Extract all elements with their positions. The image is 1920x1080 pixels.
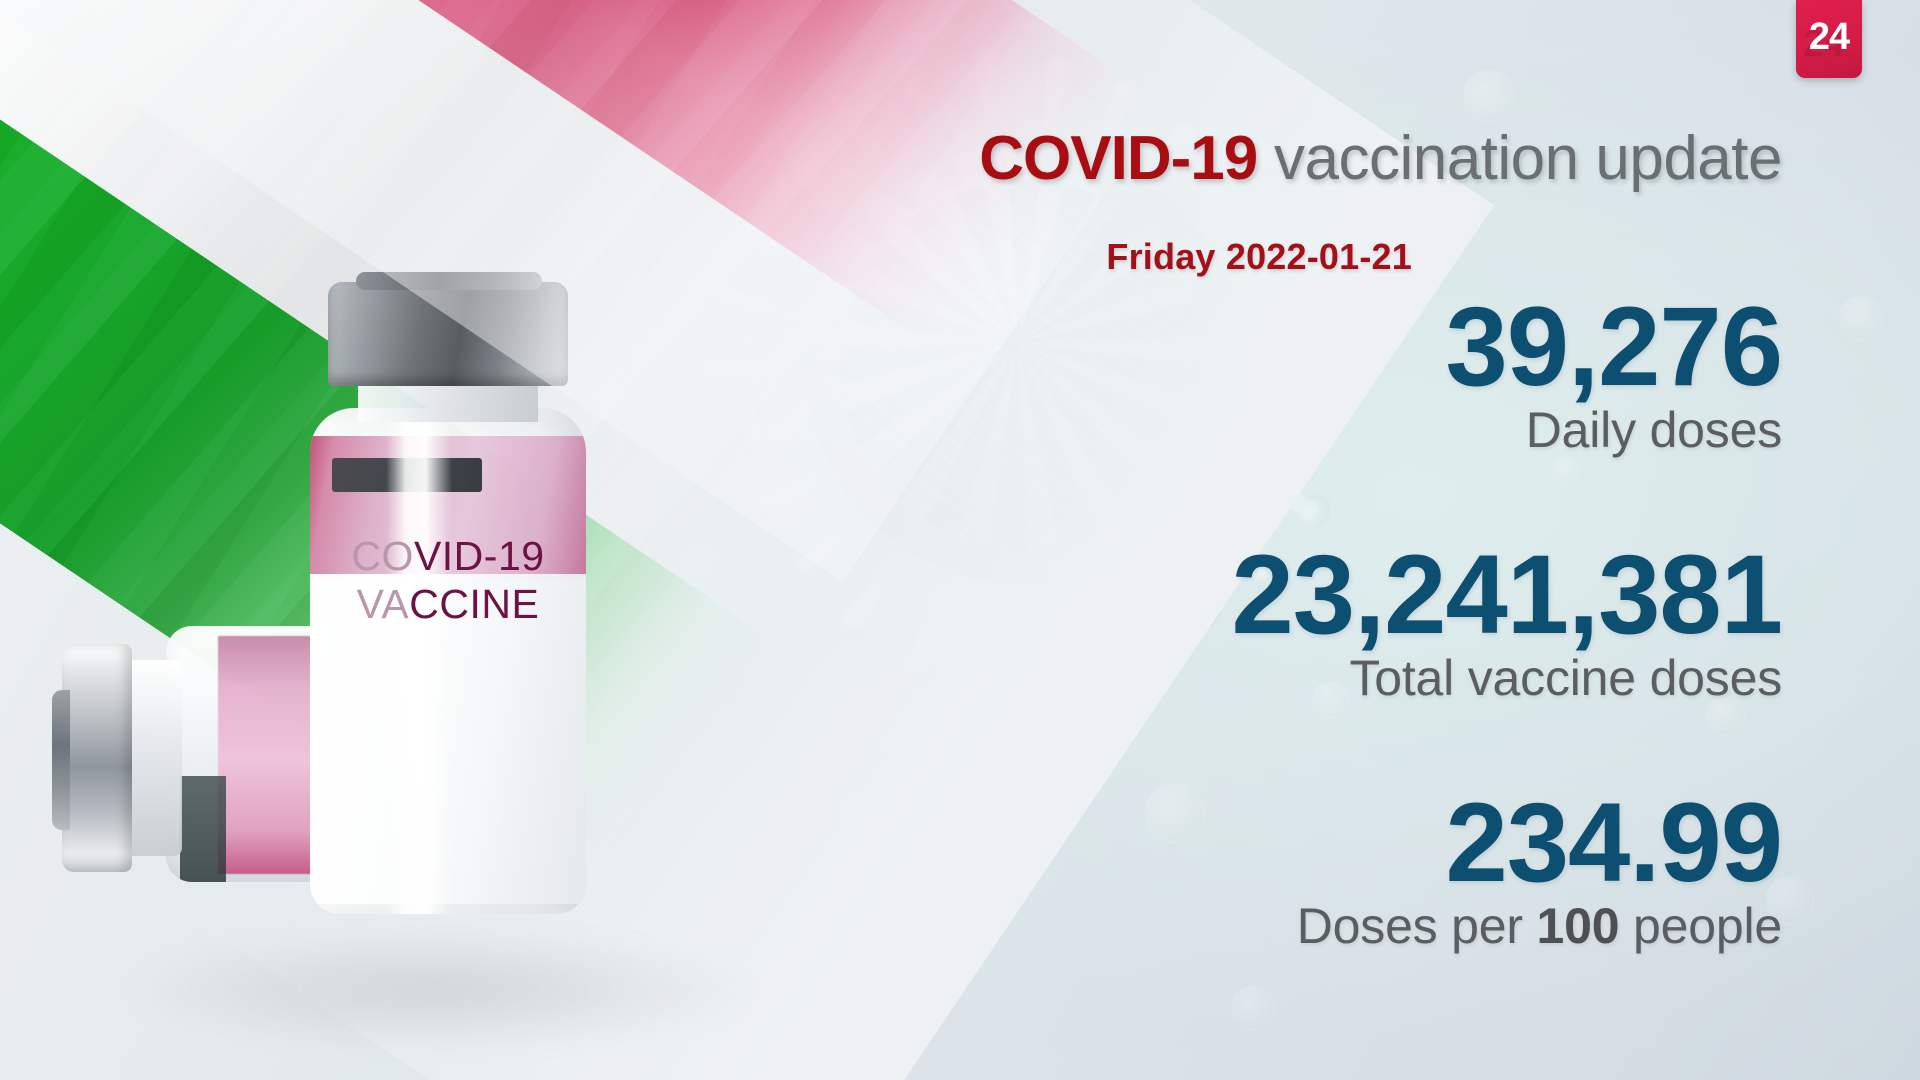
bokeh-circle xyxy=(1839,296,1883,340)
badge-label: 24 xyxy=(1809,18,1849,60)
vaccine-vial-upright: COVID-19 VACCINE xyxy=(300,282,596,920)
infographic-canvas: COVID-19 VACCINE 24 COVID-19 vaccination… xyxy=(0,0,1920,1080)
vial-liquid-dark xyxy=(332,458,482,492)
page-title: COVID-19 vaccination update xyxy=(979,128,1782,190)
vial-label-panel xyxy=(310,574,586,904)
stat-label-prefix: Doses per xyxy=(1297,898,1537,954)
stat-total-vaccine-doses: 23,241,381 Total vaccine doses xyxy=(722,538,1782,705)
stat-daily-doses: 39,276 Daily doses xyxy=(722,290,1782,457)
vial-shadow xyxy=(120,930,760,1050)
vial-metal-cap xyxy=(62,644,132,872)
stat-label: Doses per 100 people xyxy=(722,900,1782,953)
channel-24-logo-badge[interactable]: 24 xyxy=(1796,0,1862,78)
vial-metal-cap xyxy=(328,282,568,386)
stat-label: Daily doses xyxy=(722,404,1782,457)
report-date: Friday 2022-01-21 xyxy=(1106,236,1412,278)
stat-value: 39,276 xyxy=(722,290,1782,404)
vial-liquid-dark xyxy=(180,776,226,882)
stat-value: 234.99 xyxy=(722,786,1782,900)
stat-label-emphasis: 100 xyxy=(1537,898,1620,954)
stat-doses-per-100-people: 234.99 Doses per 100 people xyxy=(722,786,1782,953)
vial-liquid xyxy=(310,436,586,580)
stat-value: 23,241,381 xyxy=(722,538,1782,652)
stat-label-suffix: people xyxy=(1619,898,1782,954)
vial-glass-body xyxy=(310,408,586,914)
stats-panel: COVID-19 vaccination update Friday 2022-… xyxy=(722,0,1782,1080)
page-title-rest: vaccination update xyxy=(1257,124,1782,193)
page-title-highlight: COVID-19 xyxy=(979,124,1257,193)
stat-label: Total vaccine doses xyxy=(722,652,1782,705)
